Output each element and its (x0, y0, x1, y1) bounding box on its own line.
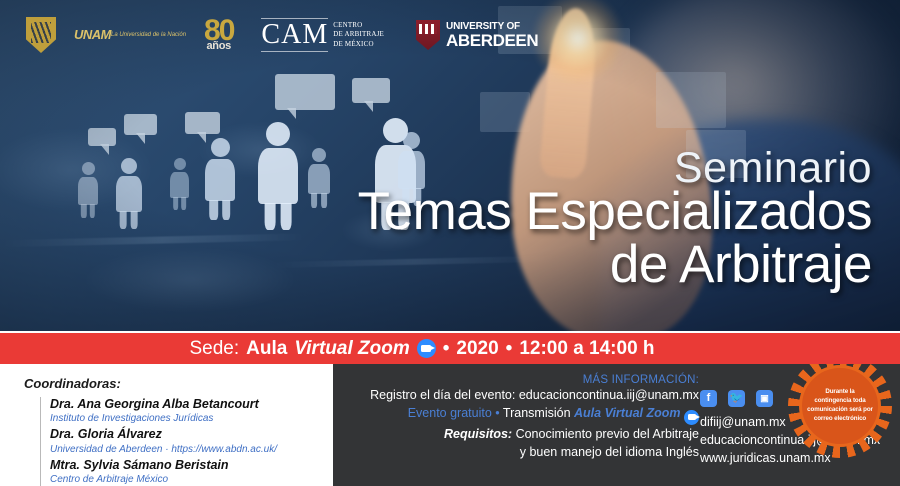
title-block: Seminario Temas Especializados de Arbitr… (358, 148, 872, 292)
coordinator-name: Mtra. Sylvia Sámano Beristain (50, 458, 333, 473)
info-transmision-value: Aula Virtual Zoom (574, 406, 681, 420)
twitter-icon[interactable]: 🐦 (728, 390, 745, 407)
aberdeen-wordmark: UNIVERSITY OF ABERDEEN (446, 22, 538, 49)
coordinator-item: Mtra. Sylvia Sámano Beristain Centro de … (50, 458, 333, 486)
facebook-icon[interactable]: f (700, 390, 717, 407)
cam-sub-line2: de Arbitraje (333, 30, 384, 38)
info-registro-label: Registro el día del evento: (370, 388, 515, 402)
venue-separator-1: • (443, 338, 450, 360)
venue-italic: Virtual Zoom (294, 338, 409, 360)
cam-logo: CAM Centro de Arbitraje de México (261, 18, 384, 52)
aberdeen-logo: UNIVERSITY OF ABERDEEN (416, 20, 538, 50)
zoom-video-icon (684, 410, 699, 425)
cam-sub-line3: de México (333, 40, 374, 48)
coordinator-item: Dra. Ana Georgina Alba Betancourt Instit… (50, 397, 333, 425)
coordinator-item: Dra. Gloria Álvarez Universidad de Aberd… (50, 427, 333, 455)
aberdeen-line1: UNIVERSITY OF (446, 22, 538, 32)
venue-separator-2: • (506, 338, 513, 360)
coordinator-affiliation: Centro de Arbitraje México (50, 473, 333, 486)
instagram-glyph: ▣ (756, 390, 773, 407)
info-requisitos-row: Requisitos: Conocimiento previo del Arbi… (341, 425, 699, 443)
stamp-core: Durante la contingencia toda comunicació… (799, 365, 881, 447)
info-transmision-label: Transmisión (503, 406, 571, 420)
coordinator-affiliation: Instituto de Investigaciones Jurídicas (50, 412, 333, 425)
info-registro-row: Registro el día del evento: educacioncon… (341, 386, 699, 404)
coordinator-name: Dra. Gloria Álvarez (50, 427, 333, 442)
info-requisitos-line2-row: y buen manejo del idioma Inglés (341, 443, 699, 461)
unam-wordmark-line1: UNAM (74, 28, 111, 42)
80-anios-logo: 80 años (204, 18, 233, 53)
bottom-section: Coordinadoras: Dra. Ana Georgina Alba Be… (0, 364, 900, 486)
title-line1: Temas Especializados (358, 185, 872, 238)
coordinator-affiliation[interactable]: Universidad de Aberdeen · https://www.ab… (50, 443, 333, 456)
facebook-glyph: f (700, 390, 717, 407)
cam-subtitle: Centro de Arbitraje de México (333, 21, 384, 49)
contingency-stamp: Durante la contingencia toda comunicació… (788, 354, 892, 458)
unam-wordmark-line2: La Universidad de la Nación (111, 32, 186, 38)
info-heading: MÁS INFORMACIÓN: (341, 374, 699, 386)
coordinators-panel: Coordinadoras: Dra. Ana Georgina Alba Be… (0, 364, 333, 486)
coordinators-list: Dra. Ana Georgina Alba Betancourt Instit… (40, 397, 333, 486)
info-requisitos-label: Requisitos: (444, 427, 512, 441)
info-registro-email[interactable]: educacioncontinua.iij@unam.mx (519, 388, 699, 402)
info-content: MÁS INFORMACIÓN: Registro el día del eve… (341, 374, 699, 461)
venue-bar-content: Sede: Aula Virtual Zoom • 2020 • 12:00 a… (189, 338, 654, 360)
info-transmision-row: Evento gratuito • Transmisión Aula Virtu… (341, 404, 699, 425)
title-line2: de Arbitraje (358, 238, 872, 292)
venue-year: 2020 (456, 338, 498, 360)
cam-wordmark: CAM (261, 18, 328, 52)
venue-time: 12:00 a 14:00 h (519, 338, 654, 360)
info-requisitos-line2: y buen manejo del idioma Inglés (520, 445, 699, 459)
venue-bar: Sede: Aula Virtual Zoom • 2020 • 12:00 a… (0, 331, 900, 364)
contact-block: f 🐦 ▣ difiij@unam.mx educacioncontinua.i… (700, 390, 900, 467)
aberdeen-crest-icon (416, 20, 440, 50)
unam-shield-icon (26, 17, 56, 53)
coordinator-name: Dra. Ana Georgina Alba Betancourt (50, 397, 333, 412)
stamp-text: Durante la contingencia toda comunicació… (802, 388, 878, 424)
logo-bar: UNAM La Universidad de la Nación 80 años… (0, 0, 900, 70)
zoom-video-icon (417, 339, 436, 358)
info-requisitos-line1: Conocimiento previo del Arbitraje (516, 427, 699, 441)
cam-sub-line1: Centro (333, 21, 362, 29)
anios-label: años (206, 40, 230, 52)
unam-shield-logo (26, 17, 56, 53)
unam-wordmark-logo: UNAM La Universidad de la Nación (74, 28, 186, 42)
sede-label: Sede: (189, 338, 239, 360)
aberdeen-line2: ABERDEEN (446, 32, 538, 49)
twitter-glyph: 🐦 (728, 390, 745, 407)
instagram-icon[interactable]: ▣ (756, 390, 773, 407)
poster: UNAM La Universidad de la Nación 80 años… (0, 0, 900, 486)
info-gratuito: Evento gratuito (408, 406, 492, 420)
coordinators-heading: Coordinadoras: (18, 376, 333, 391)
info-bullet: • (495, 406, 499, 420)
venue-plain: Aula (246, 338, 287, 360)
